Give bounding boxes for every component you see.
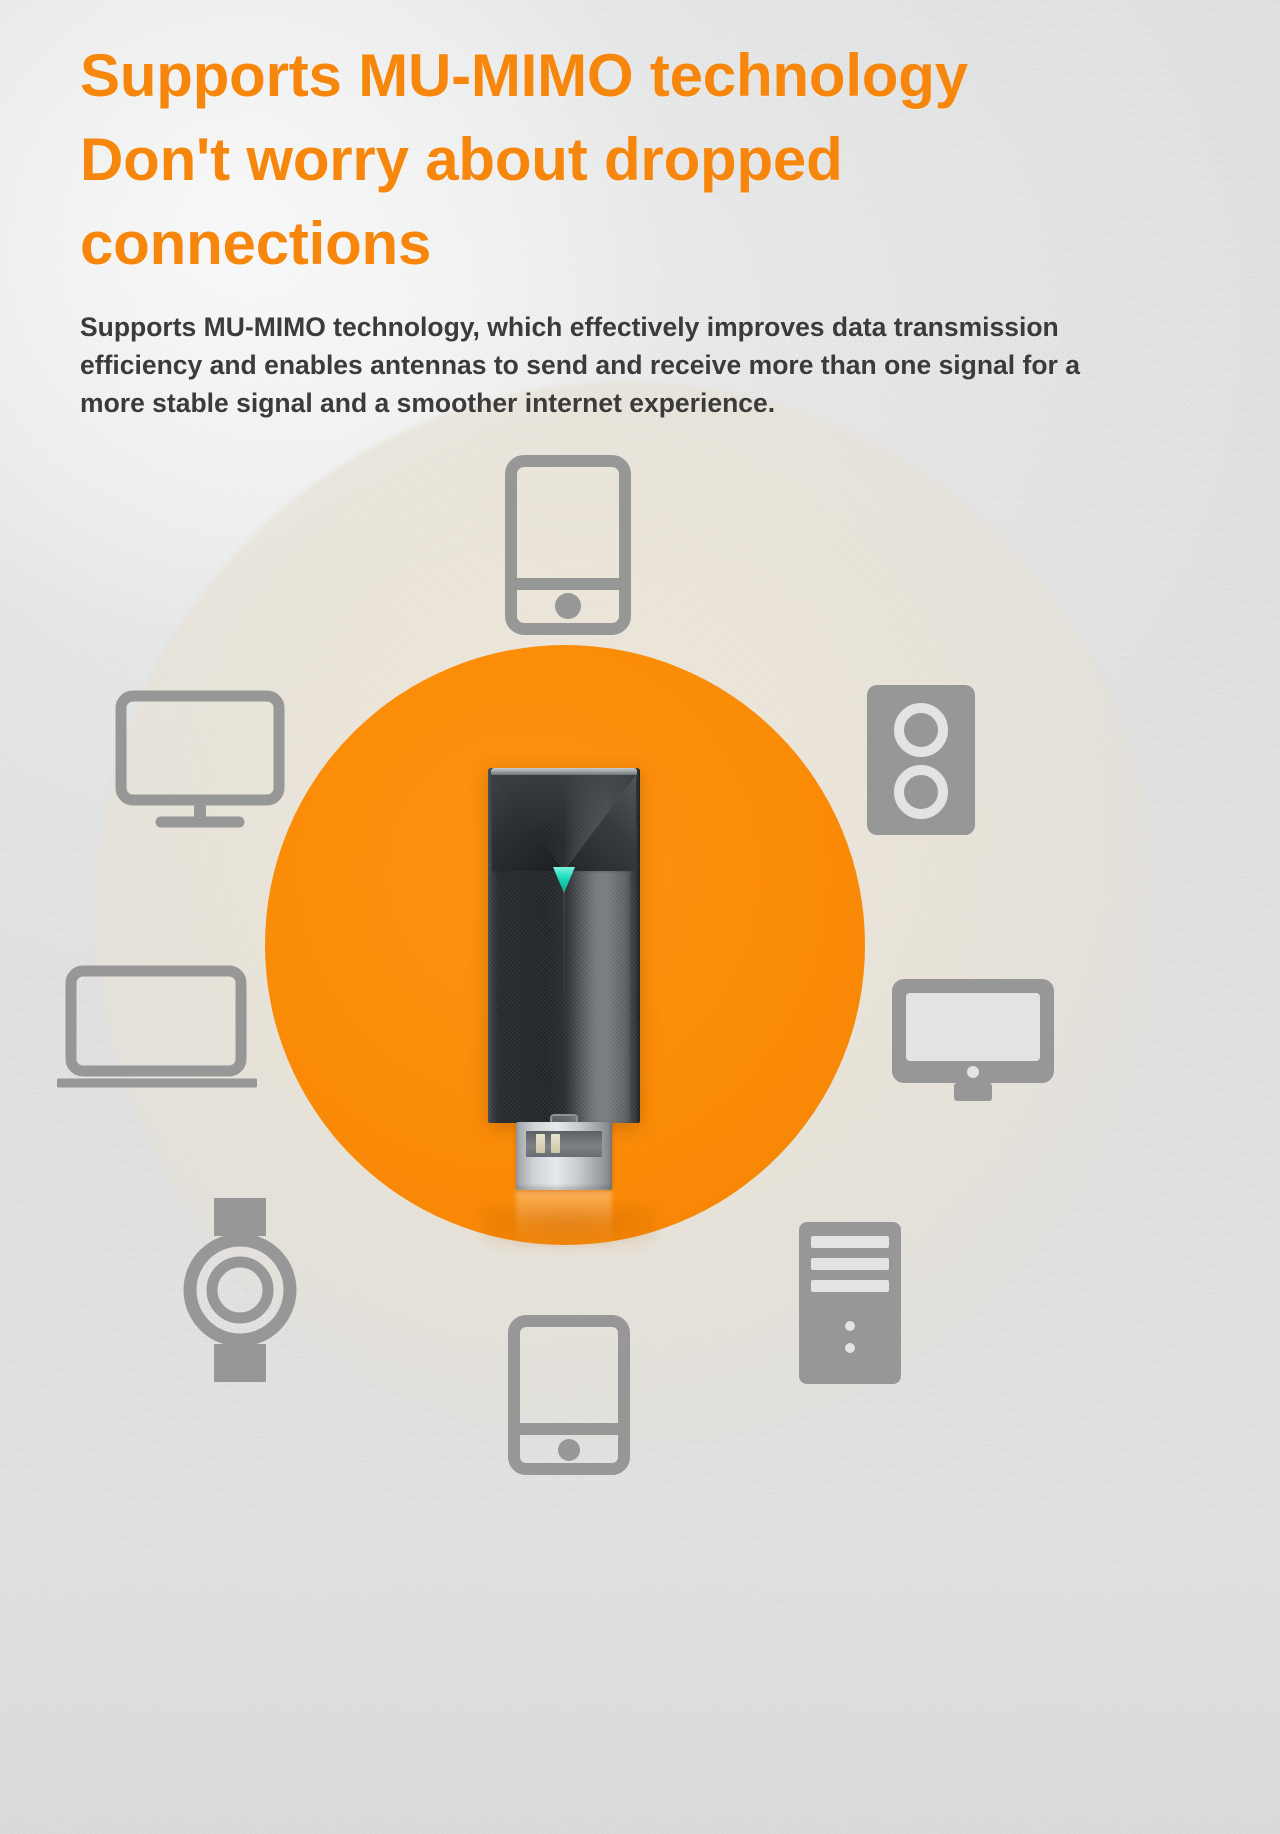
- usb-slot: [526, 1131, 602, 1157]
- usb-a-connector: [516, 1122, 612, 1190]
- device-node-laptop: [57, 965, 257, 1095]
- laptop-icon: [57, 965, 257, 1095]
- page-title: Supports MU-MIMO technology Don't worry …: [80, 34, 1090, 286]
- header-block: Supports MU-MIMO technology Don't worry …: [80, 34, 1090, 422]
- tablet-icon: [508, 1315, 630, 1475]
- speaker-icon: [862, 680, 980, 840]
- device-node-computer-monitor: [115, 690, 285, 830]
- device-node-pc-tower: [795, 1218, 905, 1388]
- page-description: Supports MU-MIMO technology, which effec…: [80, 308, 1080, 422]
- computer-monitor-icon: [115, 690, 285, 830]
- usb-pin: [536, 1134, 545, 1153]
- device-node-tablet: [508, 1315, 630, 1475]
- adapter-highlight: [575, 872, 630, 1123]
- device-node-speaker: [862, 680, 980, 840]
- usb-reflection: [516, 1190, 612, 1252]
- pc-tower-icon: [795, 1218, 905, 1388]
- page-background: Supports MU-MIMO technology Don't worry …: [0, 0, 1280, 1834]
- smartphone-icon: [505, 455, 631, 635]
- adapter-center-ridge: [564, 888, 565, 1123]
- usb-shell: [516, 1122, 612, 1190]
- usb-wifi-adapter: [488, 768, 640, 1123]
- usb-pin: [551, 1134, 560, 1153]
- device-node-desktop-monitor: [888, 975, 1058, 1105]
- smartwatch-icon: [180, 1190, 300, 1390]
- adapter-top-edge: [491, 768, 637, 775]
- desktop-monitor-icon: [888, 975, 1058, 1105]
- device-node-smartwatch: [180, 1190, 300, 1390]
- device-node-smartphone: [505, 455, 631, 635]
